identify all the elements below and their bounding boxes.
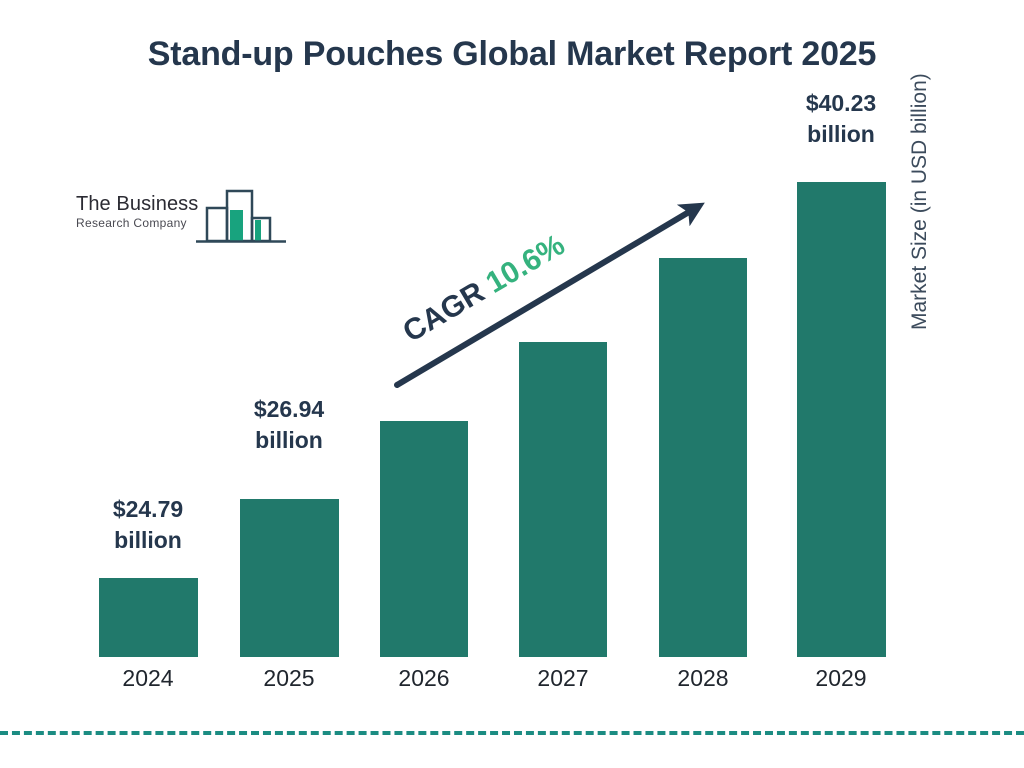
bar-value-2025: $26.94 billion <box>229 394 349 455</box>
x-tick-2029: 2029 <box>781 665 901 692</box>
x-tick-2025: 2025 <box>229 665 349 692</box>
bar-2025 <box>240 499 339 657</box>
bar-2027 <box>519 342 607 657</box>
x-tick-2024: 2024 <box>88 665 208 692</box>
x-tick-2028: 2028 <box>643 665 763 692</box>
bar-chart: $24.79 billion $26.94 billion $40.23 bil… <box>0 0 1024 768</box>
bar-2029 <box>797 182 886 657</box>
cagr-label: CAGR <box>397 276 490 349</box>
bar-value-2024: $24.79 billion <box>88 494 208 555</box>
bar-value-2029: $40.23 billion <box>781 88 901 149</box>
cagr-annotation: CAGR10.6% <box>397 228 571 349</box>
bar-2024 <box>99 578 198 657</box>
y-axis-label: Market Size (in USD billion) <box>908 10 932 330</box>
bar-2026 <box>380 421 468 657</box>
x-tick-2026: 2026 <box>364 665 484 692</box>
footer-divider <box>0 731 1024 735</box>
x-tick-2027: 2027 <box>503 665 623 692</box>
bar-2028 <box>659 258 747 657</box>
cagr-value: 10.6% <box>480 228 570 300</box>
